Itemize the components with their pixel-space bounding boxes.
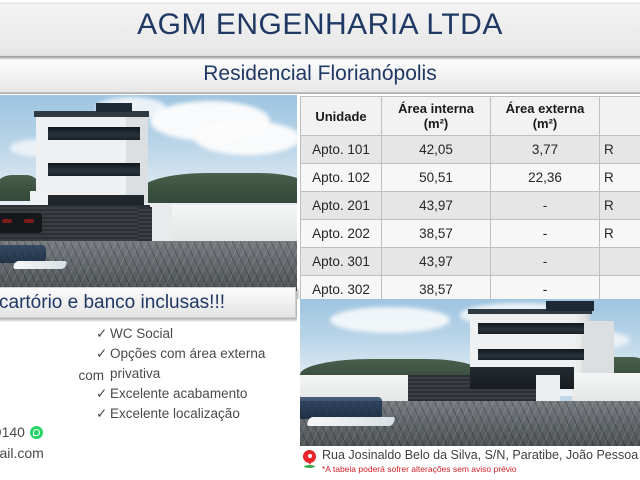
building-render-side [300, 299, 640, 446]
wall-pillar [536, 375, 560, 403]
table-body: Apto. 10142,053,77RApto. 10250,5122,36RA… [301, 136, 640, 304]
car-taillight [24, 219, 34, 223]
header-line-2: (m²) [384, 116, 488, 131]
column-header-area-externa[interactable]: Área externa (m²) [491, 97, 600, 136]
parked-car [0, 213, 42, 233]
cell-price: R [600, 164, 640, 192]
column-header-preco[interactable] [600, 97, 640, 136]
table-row[interactable]: Apto. 30143,97- [301, 248, 640, 276]
units-price-table: Unidade Área interna (m²) Área externa (… [300, 96, 640, 304]
table-row[interactable]: Apto. 20143,97-R [301, 192, 640, 220]
feature-left-label-2: (opção com [0, 368, 104, 383]
window-band-upper [48, 127, 140, 140]
feature-item: ✓Excelente localização [96, 404, 296, 424]
street-vehicle [300, 397, 382, 419]
feature-item: ericana [0, 346, 104, 366]
address-bar: Rua Josinaldo Belo da Silva, S/N, Parati… [300, 447, 640, 480]
street-marking [12, 261, 67, 269]
check-icon: ✓ [96, 404, 110, 424]
promo-banner: cartório e banco inclusas!!! [0, 287, 296, 318]
cell-external: - [491, 192, 600, 220]
contact-block: 8828-9140 a@gmail.com [0, 422, 208, 464]
table-row[interactable]: Apto. 10250,5122,36R [301, 164, 640, 192]
company-title: AGM ENGENHARIA LTDA [0, 8, 640, 42]
pin-base [304, 465, 315, 468]
cell-internal: 43,97 [382, 248, 491, 276]
boundary-wall-right [572, 373, 640, 403]
check-icon: ✓ [96, 384, 110, 404]
map-pin-icon [303, 450, 316, 468]
disclaimer-text: *A tabela poderá sofrer alterações sem a… [322, 464, 517, 474]
feature-label: Opções com área externa [110, 346, 265, 361]
cell-price [600, 248, 640, 276]
rooftop-box [546, 301, 594, 311]
feature-item: ✓Excelente acabamento [96, 384, 296, 404]
features-right-column: ✓WC Social ✓Opções com área externa priv… [96, 324, 296, 424]
cell-unit: Apto. 202 [301, 220, 382, 248]
cell-unit: Apto. 201 [301, 192, 382, 220]
subtitle-band: Residencial Florianópolis [0, 60, 640, 94]
table-head: Unidade Área interna (m²) Área externa (… [301, 97, 640, 136]
cell-internal: 38,57 [382, 220, 491, 248]
feature-label: Excelente localização [110, 406, 240, 421]
window-band-upper [478, 323, 584, 334]
treeline-right [140, 173, 297, 203]
address-text: Rua Josinaldo Belo da Silva, S/N, Parati… [322, 448, 638, 462]
cell-external: - [491, 248, 600, 276]
building-render-front [0, 95, 297, 291]
cell-unit: Apto. 101 [301, 136, 382, 164]
cell-internal: 50,51 [382, 164, 491, 192]
column-header-unidade[interactable]: Unidade [301, 97, 382, 136]
rooftop-box [96, 103, 132, 112]
cell-external: 22,36 [491, 164, 600, 192]
cloud [330, 307, 450, 333]
boundary-wall-right [172, 205, 297, 241]
phone-number: 8828-9140 [0, 422, 25, 443]
feature-item: ✓WC Social [96, 324, 296, 344]
car-taillight [2, 219, 12, 223]
building-base-block [30, 191, 48, 205]
cell-internal: 43,97 [382, 192, 491, 220]
phone-line[interactable]: 8828-9140 [0, 422, 208, 443]
email-line[interactable]: a@gmail.com [0, 443, 208, 464]
header-line-2: (m²) [493, 116, 597, 131]
cell-internal: 42,05 [382, 136, 491, 164]
project-subtitle: Residencial Florianópolis [0, 62, 640, 86]
feature-label: privativa [110, 366, 160, 381]
features-contact-area: ericana (opção com iço ✓WC Social ✓Opçõe… [0, 322, 297, 480]
cell-unit: Apto. 102 [301, 164, 382, 192]
cell-external: - [491, 220, 600, 248]
promo-banner-text: cartório e banco inclusas!!! [0, 292, 225, 314]
table-row[interactable]: Apto. 20238,57-R [301, 220, 640, 248]
column-header-area-interna[interactable]: Área interna (m²) [382, 97, 491, 136]
window-band-lower [478, 349, 584, 360]
header-line-1: Área externa [493, 101, 597, 116]
feature-label: WC Social [110, 326, 173, 341]
table-header-row: Unidade Área interna (m²) Área externa (… [301, 97, 640, 136]
cloud [195, 121, 297, 155]
feature-item-continuation: privativa [96, 364, 296, 384]
street-marking [306, 417, 396, 426]
table-row[interactable]: Apto. 10142,053,77R [301, 136, 640, 164]
cell-price: R [600, 136, 640, 164]
window-band-lower [48, 163, 140, 176]
cell-price: R [600, 192, 640, 220]
check-icon: ✓ [96, 324, 110, 344]
feature-label: Excelente acabamento [110, 386, 247, 401]
wall-pillar [150, 203, 172, 241]
cell-external: 3,77 [491, 136, 600, 164]
feature-item: ✓Opções com área externa [96, 344, 296, 364]
whatsapp-icon[interactable] [30, 426, 43, 439]
header-line-1: Área interna [384, 101, 488, 116]
email-address: a@gmail.com [0, 443, 44, 464]
header-band: AGM ENGENHARIA LTDA [0, 0, 640, 58]
cell-unit: Apto. 301 [301, 248, 382, 276]
gate-panel-secondary [138, 207, 152, 241]
feature-item: (opção com [0, 366, 104, 386]
cell-price: R [600, 220, 640, 248]
check-icon: ✓ [96, 344, 110, 364]
